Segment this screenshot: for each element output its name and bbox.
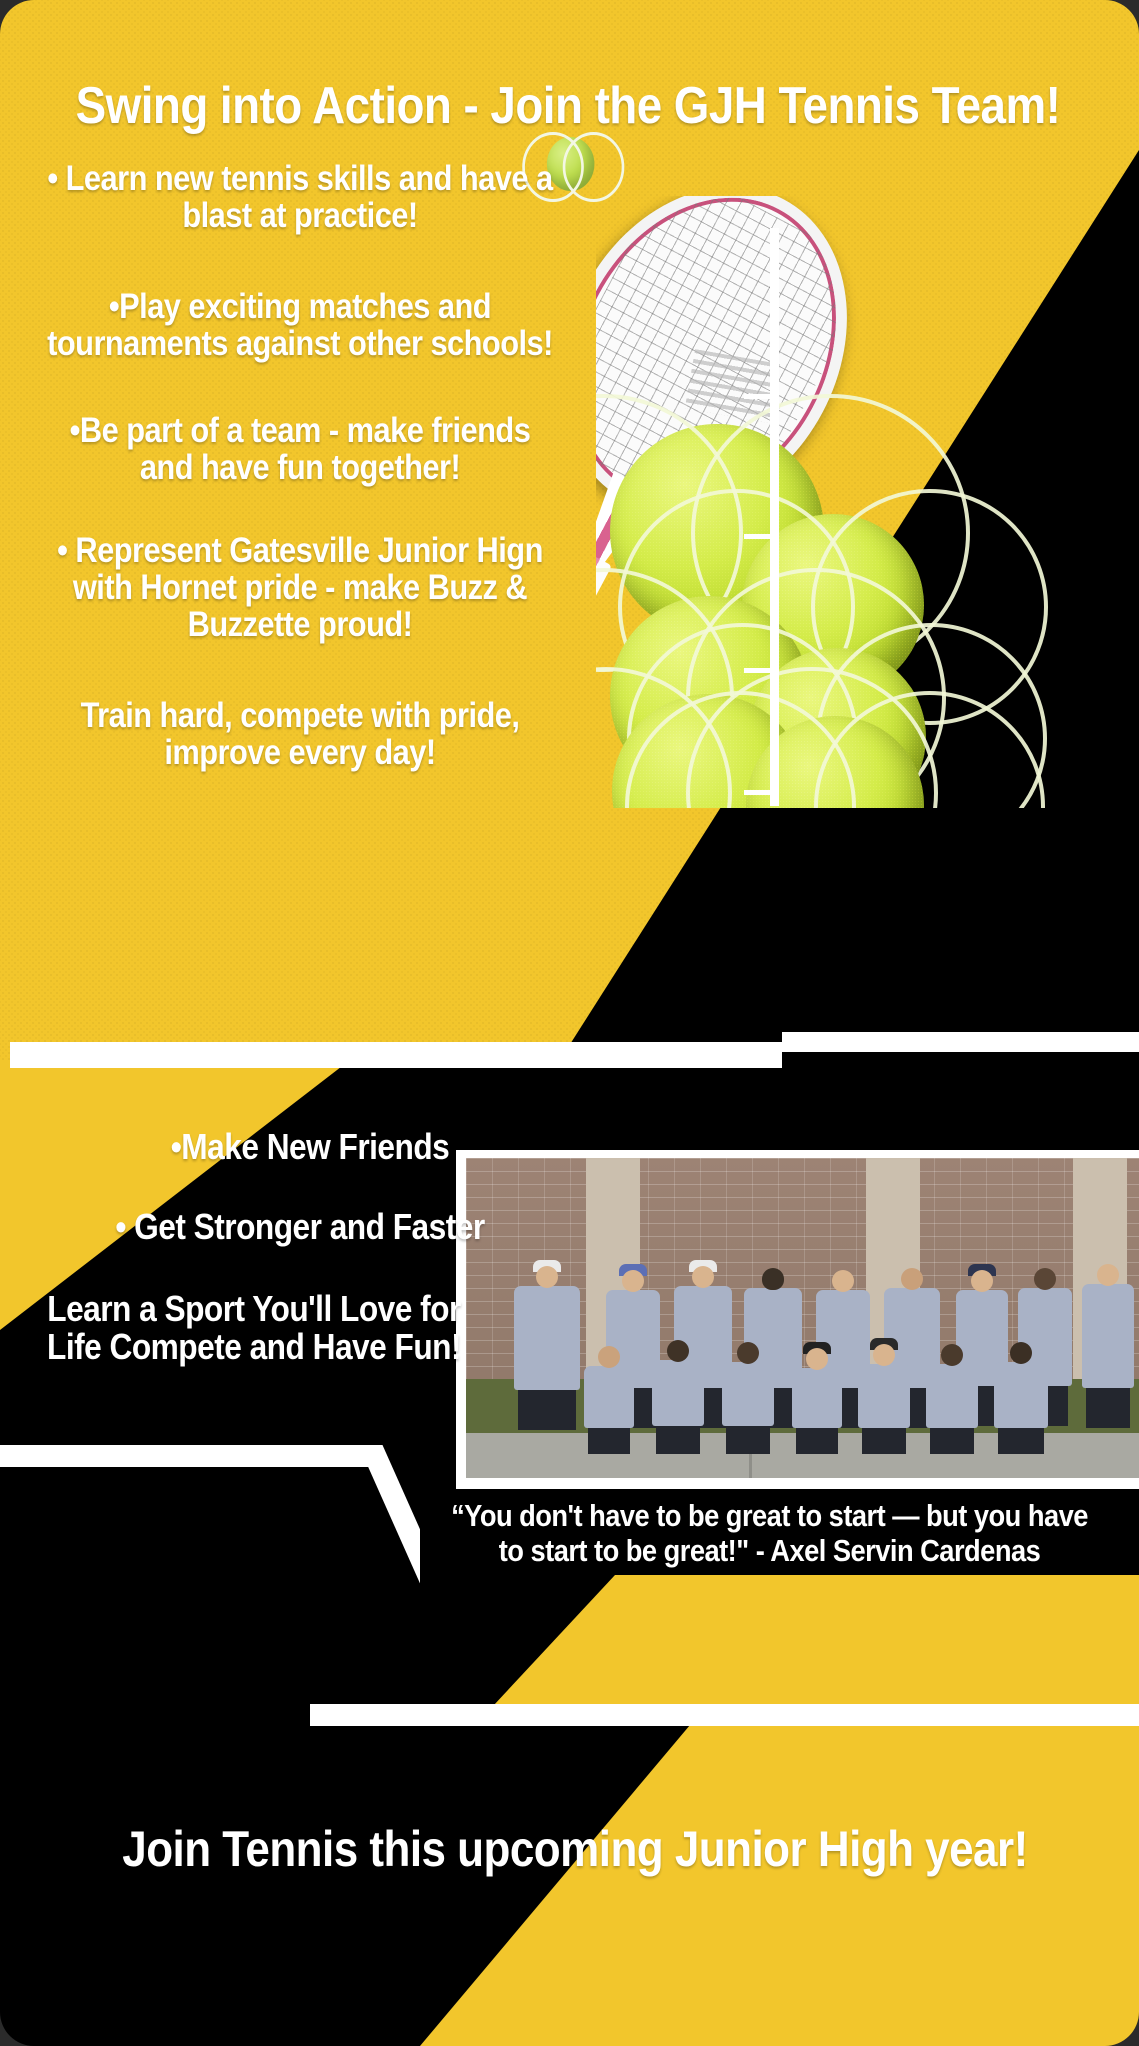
court-tick-4: [744, 790, 774, 795]
team-member-kneeling: [994, 1362, 1048, 1428]
team-member-kneeling: [584, 1366, 634, 1428]
team-member-kneeling: [926, 1364, 978, 1428]
court-tick-1: [744, 394, 774, 399]
yellow-bottom-panel: [0, 1725, 1139, 2046]
team-member-kneeling: [792, 1368, 842, 1428]
benefit-bullet-2: •Play exciting matches and tournaments a…: [36, 288, 564, 362]
court-tick-3: [744, 668, 774, 673]
secondary-bullet-1: •Make New Friends: [55, 1128, 565, 1166]
yellow-quote-panel: [480, 1575, 1139, 1720]
motivational-quote: “You don't have to be great to start — b…: [444, 1498, 1094, 1569]
divider-bar-lower: [310, 1704, 1139, 1726]
benefit-bullet-3: •Be part of a team - make friends and ha…: [45, 412, 555, 486]
court-line-vertical: [770, 228, 779, 806]
benefit-bullet-1: • Learn new tennis skills and have a bla…: [36, 160, 564, 234]
gjh-tennis-team-group-photo: [456, 1150, 1139, 1488]
team-member-kneeling: [722, 1362, 774, 1426]
team-member: [514, 1286, 580, 1390]
secondary-bullet-3: Learn a Sport You'll Love for Life Compe…: [25, 1290, 483, 1366]
benefit-bullet-4: • Represent Gatesville Junior Hign with …: [45, 532, 555, 643]
headline-text: Swing into Action - Join the GJH Tennis …: [76, 77, 1061, 135]
photo-bottom-edge: [456, 1478, 1139, 1489]
team-member-kneeling: [652, 1360, 704, 1426]
benefit-bullet-5: Train hard, compete with pride, improve …: [36, 697, 564, 771]
tennis-racket-and-balls-photo: [596, 196, 1139, 808]
divider-bar-upper: [10, 1042, 782, 1068]
divider-bar-upper-right: [782, 1032, 1139, 1052]
team-member-kneeling: [858, 1364, 910, 1428]
court-tick-2: [744, 534, 774, 539]
team-member: [1082, 1284, 1134, 1388]
angled-accent-line: [0, 1445, 420, 1745]
secondary-bullet-2: • Get Stronger and Faster: [45, 1208, 555, 1246]
call-to-action-text: Join Tennis this upcoming Junior High ye…: [87, 1822, 1064, 1877]
tennis-recruitment-flyer: Swing into Action - Join the GJH Tennis …: [0, 0, 1139, 2046]
